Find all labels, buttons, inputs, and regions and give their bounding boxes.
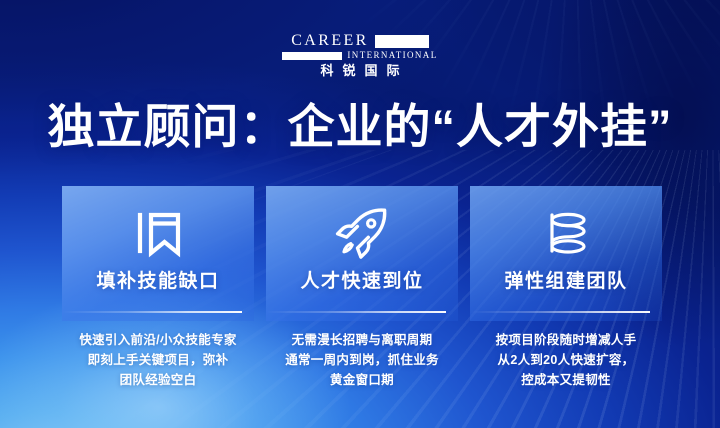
logo-secondary-row: INTERNATIONAL: [282, 51, 437, 60]
logo-white-bar: [282, 52, 342, 60]
page-title: 独立顾问：企业的“人才外挂”: [0, 98, 720, 156]
brand-logo: CAREER INTERNATIONAL 科锐国际: [0, 33, 720, 77]
divider-slot: [266, 311, 458, 314]
spring-coil-icon: [470, 204, 662, 262]
card-divider-list: [62, 311, 662, 314]
logo-primary-row: CAREER: [291, 33, 429, 49]
poster-canvas: CAREER INTERNATIONAL 科锐国际 独立顾问：企业的“人才外挂”…: [0, 0, 720, 428]
feature-card-list: 填补技能缺口 人才快速到位: [62, 186, 662, 321]
body-line: 控成本又提韧性: [470, 370, 662, 390]
feature-card-flexible-team: 弹性组建团队: [470, 186, 662, 321]
body-line: 即刻上手关键项目，弥补: [62, 350, 254, 370]
body-line: 通常一周内到岗，抓住业务: [266, 350, 458, 370]
rocket-icon: [266, 204, 458, 262]
feature-body-fast-placement: 无需漫长招聘与离职周期 通常一周内到岗，抓住业务 黄金窗口期: [266, 330, 458, 390]
divider-slot: [62, 311, 254, 314]
feature-body-list: 快速引入前沿/小众技能专家 即刻上手关键项目，弥补 团队经验空白 无需漫长招聘与…: [62, 330, 662, 390]
body-line: 团队经验空白: [62, 370, 254, 390]
logo-white-block: [375, 35, 429, 48]
logo-career-text: CAREER: [291, 33, 369, 49]
card-divider: [266, 311, 446, 313]
feature-body-flexible-team: 按项目阶段随时增减人手 从2人到20人快速扩容， 控成本又提韧性: [470, 330, 662, 390]
divider-slot: [470, 311, 662, 314]
feature-body-skill-gap: 快速引入前沿/小众技能专家 即刻上手关键项目，弥补 团队经验空白: [62, 330, 254, 390]
card-divider: [470, 311, 650, 313]
body-line: 从2人到20人快速扩容，: [470, 350, 662, 370]
feature-card-title: 人才快速到位: [266, 270, 458, 294]
feature-card-skill-gap: 填补技能缺口: [62, 186, 254, 321]
body-line: 无需漫长招聘与离职周期: [266, 330, 458, 350]
card-divider: [62, 311, 242, 313]
feature-card-title: 填补技能缺口: [62, 270, 254, 294]
logo-international-text: INTERNATIONAL: [347, 51, 437, 60]
feature-card-title: 弹性组建团队: [470, 270, 662, 294]
body-line: 快速引入前沿/小众技能专家: [62, 330, 254, 350]
logo-chinese-name: 科锐国际: [311, 63, 408, 78]
body-line: 按项目阶段随时增减人手: [470, 330, 662, 350]
feature-card-fast-placement: 人才快速到位: [266, 186, 458, 321]
book-bookmark-icon: [62, 204, 254, 262]
body-line: 黄金窗口期: [266, 370, 458, 390]
